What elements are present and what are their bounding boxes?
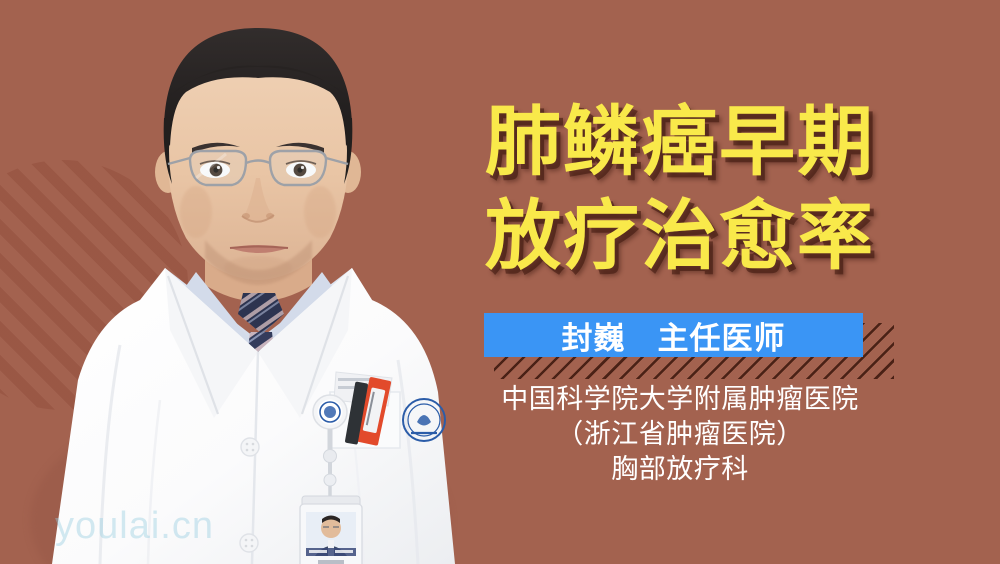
text-content-column: 肺鳞癌早期 放疗治愈率 封巍 主任医师 中国科学院大学附属肿瘤医院 （浙江省肿瘤… xyxy=(460,0,1000,564)
doctor-name-banner: 封巍 主任医师 xyxy=(484,313,863,357)
affiliation-block: 中国科学院大学附属肿瘤医院 （浙江省肿瘤医院） 胸部放疗科 xyxy=(460,382,900,487)
doctor-name-banner-wrap: 封巍 主任医师 xyxy=(484,313,884,369)
site-watermark: youlai.cn xyxy=(55,505,214,548)
affiliation-line-3: 胸部放疗科 xyxy=(460,452,900,487)
video-thumbnail: 肺鳞癌早期 放疗治愈率 封巍 主任医师 中国科学院大学附属肿瘤医院 （浙江省肿瘤… xyxy=(0,0,1000,564)
affiliation-line-2: （浙江省肿瘤医院） xyxy=(460,417,900,452)
title-line-1: 肺鳞癌早期 xyxy=(460,96,900,190)
title-line-2: 放疗治愈率 xyxy=(460,190,900,284)
video-title: 肺鳞癌早期 放疗治愈率 xyxy=(460,96,900,284)
doctor-portrait-photo xyxy=(0,0,500,564)
doctor-name-label: 封巍 主任医师 xyxy=(562,313,786,358)
affiliation-line-1: 中国科学院大学附属肿瘤医院 xyxy=(460,382,900,417)
